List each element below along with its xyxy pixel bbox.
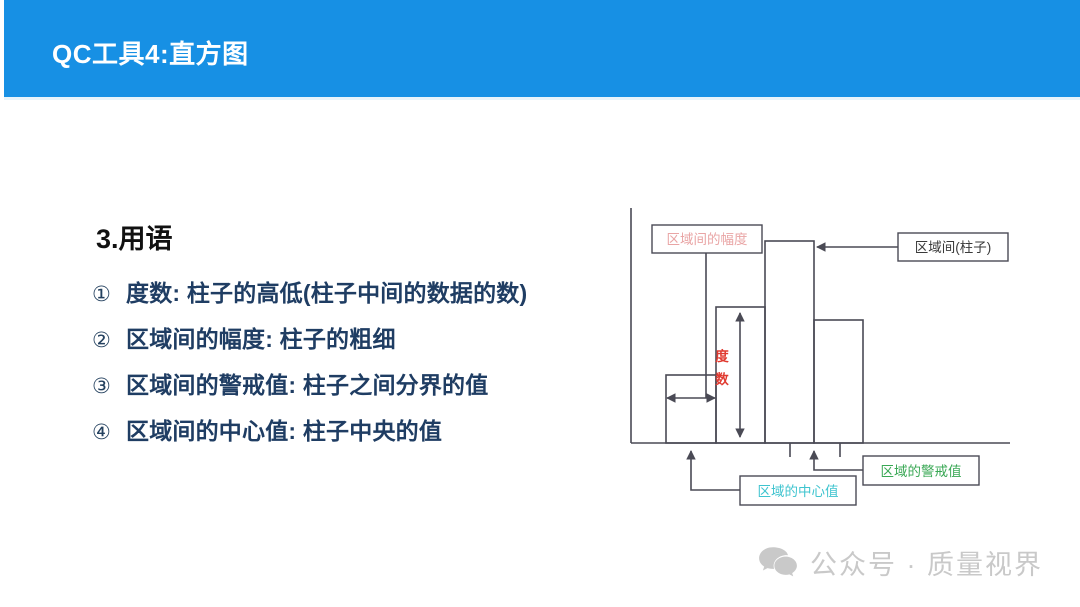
term-list: ① 度数: 柱子的高低(柱子中间的数据的数) ② 区域间的幅度: 柱子的粗细 ③… bbox=[92, 274, 632, 458]
list-item: ④ 区域间的中心值: 柱子中央的值 bbox=[92, 412, 632, 446]
list-item-label: 区域间的中心值: 柱子中央的值 bbox=[126, 412, 442, 446]
histogram-bars bbox=[666, 241, 863, 443]
footer-watermark-text: 公众号 · 质量视界 bbox=[810, 543, 1043, 582]
callout-frequency-label-char-1: 度 bbox=[715, 348, 729, 364]
callout-frequency: 度 数 bbox=[715, 348, 729, 387]
histogram-bar-4 bbox=[814, 320, 863, 443]
header-underline-divider bbox=[4, 97, 1080, 100]
slide-canvas: QC工具4:直方图 3.用语 ① 度数: 柱子的高低(柱子中间的数据的数) ② … bbox=[0, 0, 1080, 607]
callout-bin-boundary: 区域的警戒值 bbox=[863, 456, 979, 485]
section-heading: 3.用语 bbox=[96, 217, 173, 256]
bin-center-leader-line bbox=[691, 451, 740, 490]
list-item: ② 区域间的幅度: 柱子的粗细 bbox=[92, 320, 632, 354]
callout-bin-width-label: 区域间的幅度 bbox=[667, 232, 748, 247]
list-item-label: 区域间的警戒值: 柱子之间分界的值 bbox=[126, 366, 488, 400]
callout-bin-width: 区域间的幅度 bbox=[652, 225, 762, 253]
footer-watermark: 公众号 · 质量视界 bbox=[758, 543, 1043, 582]
callout-bin-bar-label: 区域间(柱子) bbox=[915, 240, 992, 255]
bin-boundary-leader-line bbox=[814, 451, 863, 470]
list-item: ① 度数: 柱子的高低(柱子中间的数据的数) bbox=[92, 274, 632, 308]
list-item-label: 度数: 柱子的高低(柱子中间的数据的数) bbox=[126, 274, 527, 308]
callout-bin-boundary-label: 区域的警戒值 bbox=[881, 464, 962, 479]
list-item-marker: ① bbox=[92, 282, 126, 307]
page-title: QC工具4:直方图 bbox=[52, 34, 249, 71]
histogram-bar-1 bbox=[666, 375, 716, 443]
callout-bin-center: 区域的中心值 bbox=[740, 476, 856, 505]
callout-frequency-label-char-2: 数 bbox=[715, 371, 729, 387]
callout-bin-center-label: 区域的中心值 bbox=[758, 484, 839, 499]
axis-tick-marks bbox=[790, 443, 840, 457]
list-item-marker: ② bbox=[92, 328, 126, 353]
list-item-label: 区域间的幅度: 柱子的粗细 bbox=[126, 320, 396, 354]
list-item: ③ 区域间的警戒值: 柱子之间分界的值 bbox=[92, 366, 632, 400]
list-item-marker: ④ bbox=[92, 420, 126, 445]
callout-bin-bar: 区域间(柱子) bbox=[898, 233, 1008, 261]
wechat-icon bbox=[758, 546, 798, 579]
histogram-bar-3 bbox=[765, 241, 814, 443]
histogram-diagram: 区域间的幅度 区域间(柱子) 度 数 区域的中心值 区域的警戒值 bbox=[610, 185, 1050, 530]
list-item-marker: ③ bbox=[92, 374, 126, 399]
